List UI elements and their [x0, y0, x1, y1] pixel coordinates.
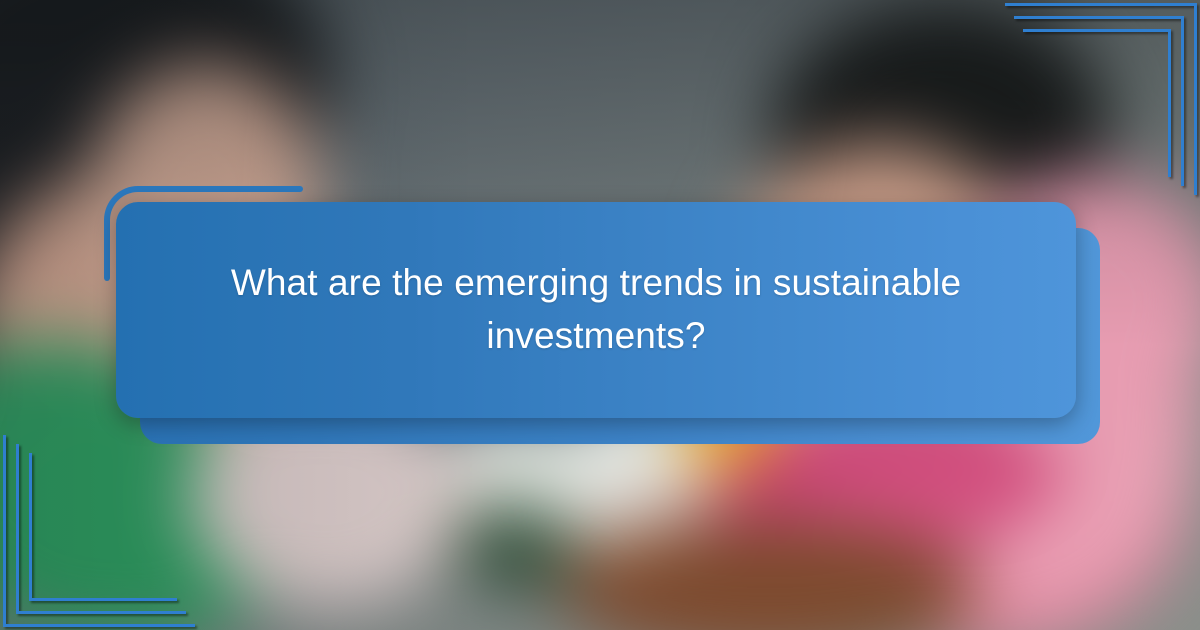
quote-text: What are the emerging trends in sustaina…: [201, 257, 991, 362]
quote-card-canvas: What are the emerging trends in sustaina…: [0, 0, 1200, 630]
quote-card: What are the emerging trends in sustaina…: [116, 202, 1076, 418]
